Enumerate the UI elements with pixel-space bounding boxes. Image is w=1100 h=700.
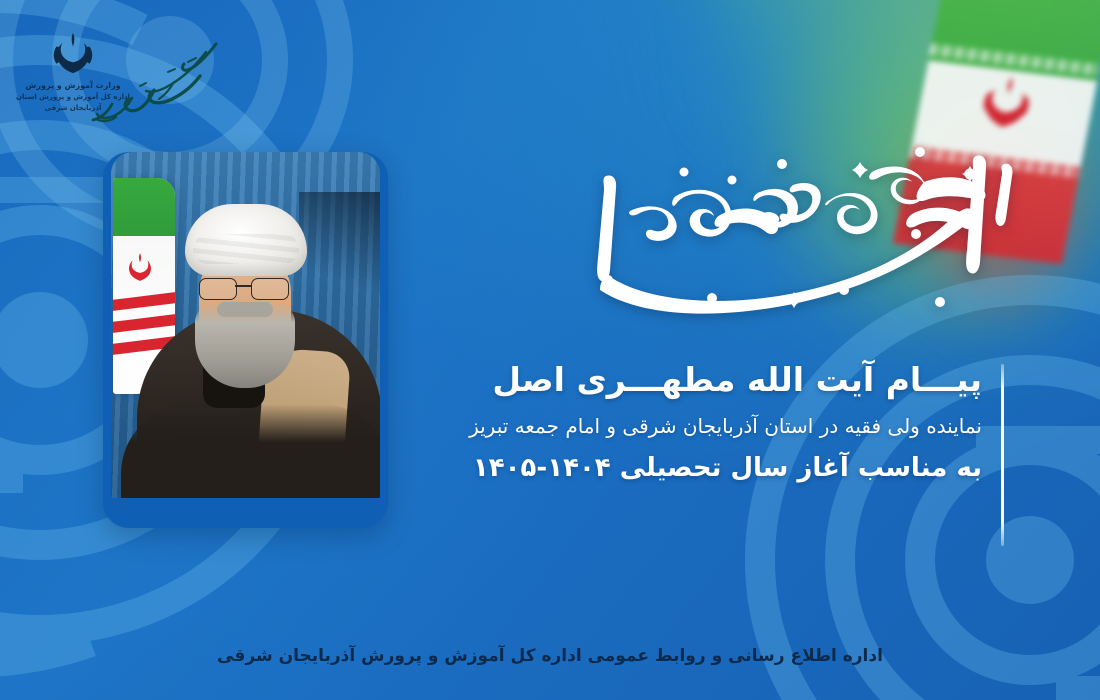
portrait-frame-base [103,498,388,528]
portrait-flag-green [113,178,175,236]
portrait-shadow-corner [299,192,380,312]
headline-calligraphy-icon [572,122,1032,332]
message-subtitle: نماینده ولی فقیه در استان آذربایجان شرقی… [402,412,982,440]
portrait-glasses-icon [195,278,295,298]
footer-credit: اداره اطلاع رسانی و روابط عمومی اداره کل… [0,646,1100,666]
message-text-block: پیـــام آیت الله مطهـــری اصل نماینده ول… [402,358,982,486]
poster-root: وزارت آموزش و پرورش اداره کل آموزش و پرو… [0,0,1100,700]
portrait-flag-emblem-icon [123,250,157,284]
portrait-photo-icon [111,152,380,500]
glasses-bridge [235,285,251,287]
message-occasion: به مناسب آغاز سال تحصیلی ۱۴۰۴-۱۴۰۵ [402,451,982,486]
portrait-flag-stripe-1 [113,292,175,312]
calligraphy-mark-icon [78,32,228,137]
message-title: پیـــام آیت الله مطهـــری اصل [402,358,982,403]
glasses-lens-right [251,278,289,300]
vertical-divider [1001,364,1004,546]
portrait-frame [103,152,388,528]
portrait-turban [185,204,307,276]
portrait-flag-stripe-2 [113,314,175,334]
glasses-lens-left [199,278,237,300]
portrait-mustache [217,302,273,317]
portrait-shoulders [121,404,380,500]
